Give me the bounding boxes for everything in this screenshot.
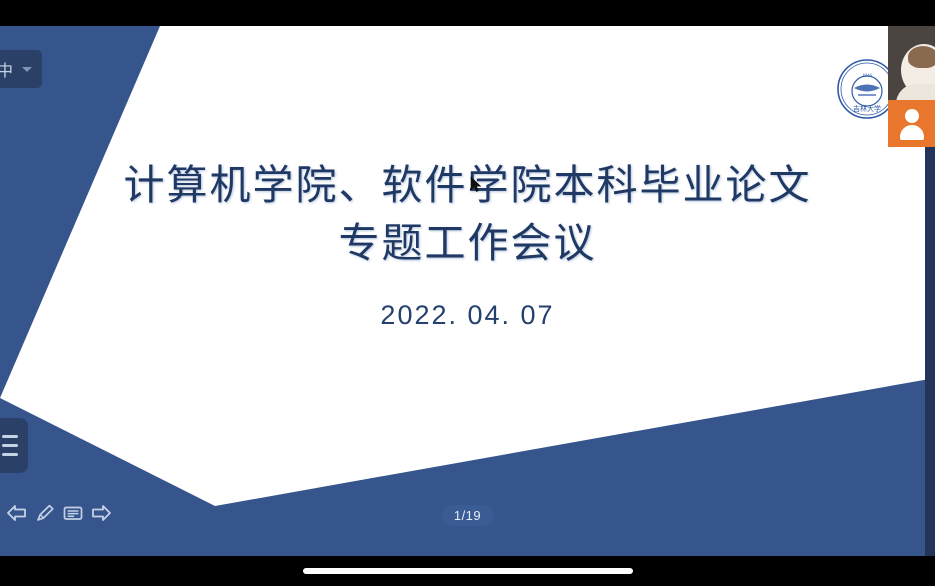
language-selector-label: 中 xyxy=(0,57,13,81)
svg-text:吉林大学: 吉林大学 xyxy=(853,104,881,113)
notes-icon[interactable] xyxy=(60,500,86,526)
avatar-body xyxy=(896,84,935,100)
list-panel-line xyxy=(2,435,18,438)
slide-toolbar xyxy=(4,500,114,526)
system-bottom-bar xyxy=(0,556,935,586)
pencil-icon[interactable] xyxy=(32,500,58,526)
shared-slide-viewport[interactable]: 1946 吉林大学 计算机学院、软件学院本科毕业论文 专题工作会议 2022. … xyxy=(0,26,935,556)
participant-avatar-tile[interactable] xyxy=(888,100,935,147)
person-icon-body xyxy=(900,125,924,140)
chevron-down-icon xyxy=(22,67,32,72)
self-video-tile[interactable] xyxy=(888,26,935,100)
system-top-bar xyxy=(0,0,935,26)
avatar-hair xyxy=(908,46,935,68)
slide-right-edge-strip xyxy=(925,126,935,556)
arrow-left-icon[interactable] xyxy=(4,500,30,526)
page-indicator[interactable]: 1/19 xyxy=(442,505,494,526)
person-icon xyxy=(905,109,919,123)
list-panel-icon[interactable] xyxy=(0,418,28,473)
language-selector[interactable]: 中 xyxy=(0,50,42,88)
svg-text:1946: 1946 xyxy=(862,74,873,79)
screen-root: 1946 吉林大学 计算机学院、软件学院本科毕业论文 专题工作会议 2022. … xyxy=(0,0,935,586)
list-panel-line xyxy=(2,453,18,456)
arrow-right-icon[interactable] xyxy=(88,500,114,526)
mouse-cursor-icon xyxy=(470,176,482,193)
home-indicator[interactable] xyxy=(303,568,633,574)
list-panel-line xyxy=(2,444,18,447)
slide-background-shape xyxy=(0,26,935,556)
participant-tiles xyxy=(888,26,935,147)
